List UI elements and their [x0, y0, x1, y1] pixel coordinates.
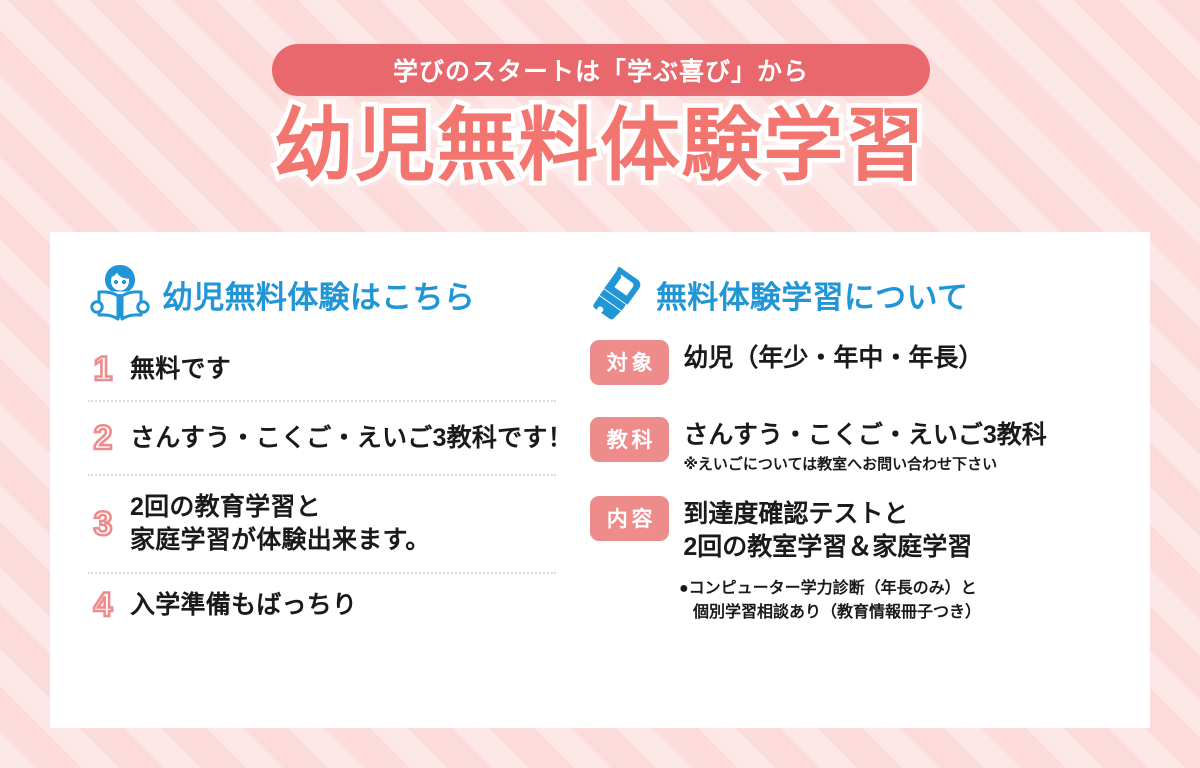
detail-row-subjects: 教科 さんすう・こくご・えいご3教科 ※えいごについては教室へお問い合わせ下さい [590, 417, 1150, 474]
list-item: 4 入学準備もばっちり [88, 574, 556, 636]
content-card: 幼児無料体験はこちら 1 無料です 2 さんすう・こくご・えいご3教科です！ [50, 232, 1150, 728]
detail-body: さんすう・こくご・えいご3教科 ※えいごについては教室へお問い合わせ下さい [683, 417, 1150, 474]
list-item-text: 無料です [130, 353, 231, 386]
list-item-text: 入学準備もばっちり [130, 589, 357, 622]
list-item-number: 1 [88, 352, 118, 386]
list-item-line1: 入学準備もばっちり [130, 591, 357, 619]
content-columns: 幼児無料体験はこちら 1 無料です 2 さんすう・こくご・えいご3教科です！ [50, 232, 1150, 728]
detail-line1: 幼児（年少・年中・年長） [683, 344, 983, 372]
detail-tag: 内容 [590, 496, 669, 541]
list-item: 3 2回の教育学習と 家庭学習が体験出来ます。 [88, 476, 556, 572]
row-spacer [590, 474, 1150, 496]
left-column: 幼児無料体験はこちら 1 無料です 2 さんすう・こくご・えいご3教科です！ [50, 232, 580, 728]
detail-tag: 対象 [590, 340, 669, 385]
bullet-note: ●コンピューター学力診断（年長のみ）と 個別学習相談あり（教育情報冊子つき） [679, 577, 1150, 625]
list-item-text: さんすう・こくご・えいご3教科です！ [130, 422, 573, 455]
list-item-number: 4 [88, 588, 118, 622]
page-title: 幼児無料体験学習 [0, 104, 1200, 188]
detail-row-target: 対象 幼児（年少・年中・年長） [590, 340, 1150, 385]
detail-tag: 教科 [590, 417, 669, 462]
right-column-header: 無料体験学習について [590, 262, 1150, 326]
detail-line2: 2回の教室学習＆家庭学習 [683, 533, 972, 561]
bullet-note-line2: 個別学習相談あり（教育情報冊子つき） [679, 601, 1150, 625]
detail-line1: さんすう・こくご・えいご3教科 [683, 421, 1046, 449]
list-item-line1: さんすう・こくご・えいご3教科です！ [130, 424, 573, 452]
detail-body: 到達度確認テストと 2回の教室学習＆家庭学習 [683, 496, 972, 565]
list-item-text: 2回の教育学習と 家庭学習が体験出来ます。 [130, 491, 431, 557]
ribbon-text: 学びのスタートは「学ぶ喜び」から [393, 52, 809, 88]
fountain-pen-icon [590, 263, 646, 326]
left-column-heading: 幼児無料体験はこちら [162, 272, 475, 317]
right-column-heading: 無料体験学習について [656, 272, 968, 317]
left-column-header: 幼児無料体験はこちら [88, 262, 580, 326]
list-item-line2: 家庭学習が体験出来ます。 [130, 526, 431, 554]
program-details: 対象 幼児（年少・年中・年長） 教科 さんすう・こくご・えいご3教科 ※えいごに… [590, 340, 1150, 625]
list-item-line1: 2回の教育学習と [130, 493, 321, 521]
ribbon-banner: 学びのスタートは「学ぶ喜び」から [272, 44, 930, 96]
list-item-line1: 無料です [130, 355, 231, 383]
benefit-list: 1 無料です 2 さんすう・こくご・えいご3教科です！ 3 2 [88, 338, 556, 636]
right-column: 無料体験学習について 対象 幼児（年少・年中・年長） 教科 さんすう・こくご・え… [580, 232, 1150, 728]
list-item-number: 3 [88, 507, 118, 541]
list-item: 1 無料です [88, 338, 556, 400]
list-item: 2 さんすう・こくご・えいご3教科です！ [88, 402, 556, 474]
list-item-number: 2 [88, 421, 118, 455]
child-reading-book-icon [88, 263, 152, 326]
detail-body: 幼児（年少・年中・年長） [683, 340, 983, 376]
row-spacer [590, 385, 1150, 417]
detail-line1: 到達度確認テストと [683, 500, 908, 528]
detail-note: ※えいごについては教室へお問い合わせ下さい [683, 456, 997, 473]
bullet-note-line1: ●コンピューター学力診断（年長のみ）と [679, 580, 977, 597]
detail-row-content: 内容 到達度確認テストと 2回の教室学習＆家庭学習 [590, 496, 1150, 565]
